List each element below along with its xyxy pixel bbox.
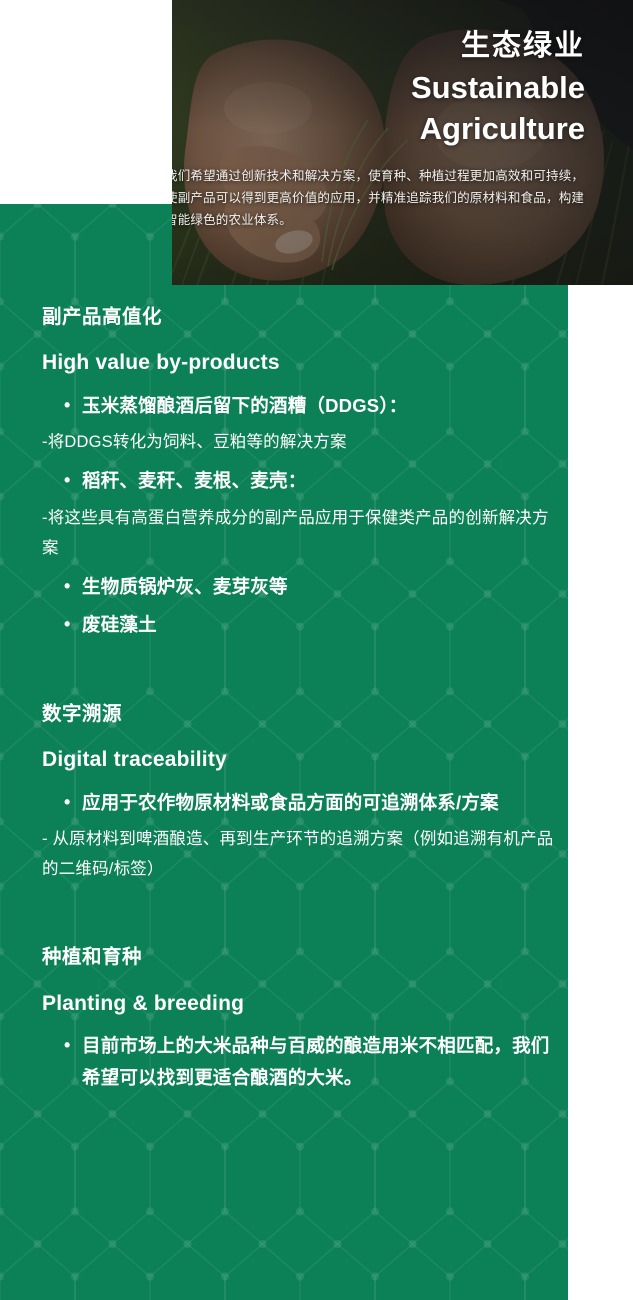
section-heading-english: Planting & breeding	[42, 990, 554, 1018]
list-item: 应用于农作物原材料或食品方面的可追溯体系/方案	[42, 787, 554, 819]
section-note: - 从原材料到啤酒酿造、再到生产环节的追溯方案（例如追溯有机产品的二维码/标签）	[42, 824, 554, 884]
hero-title-english: Sustainable Agriculture	[411, 68, 585, 150]
section-bullet-list: 生物质锅炉灰、麦芽灰等 废硅藻土	[42, 571, 554, 641]
section-bullet-list: 应用于农作物原材料或食品方面的可追溯体系/方案	[42, 787, 554, 819]
section-note: -将DDGS转化为饲料、豆粕等的解决方案	[42, 427, 554, 457]
section-spacer	[42, 667, 554, 701]
section-bullet-list: 稻秆、麦秆、麦根、麦壳：	[42, 465, 554, 497]
content-body: 副产品高值化 High value by-products 玉米蒸馏酿酒后留下的…	[0, 204, 568, 1120]
hero-title-english-line2: Agriculture	[411, 109, 585, 150]
section-note: -将这些具有高蛋白营养成分的副产品应用于保健类产品的创新解决方案	[42, 503, 554, 563]
section-bullet-list: 目前市场上的大米品种与百威的酿造用米不相匹配，我们希望可以找到更适合酿酒的大米。	[42, 1030, 554, 1094]
hero-title-english-line1: Sustainable	[411, 68, 585, 109]
list-item: 生物质锅炉灰、麦芽灰等	[42, 571, 554, 603]
hero-title-chinese: 生态绿业	[461, 28, 585, 64]
section-heading-chinese: 种植和育种	[42, 944, 554, 971]
section-high-value-by-products: 副产品高值化 High value by-products 玉米蒸馏酿酒后留下的…	[42, 304, 554, 641]
section-spacer	[42, 910, 554, 944]
list-item: 稻秆、麦秆、麦根、麦壳：	[42, 465, 554, 497]
section-heading-english: High value by-products	[42, 349, 554, 377]
section-heading-chinese: 数字溯源	[42, 701, 554, 728]
section-planting-and-breeding: 种植和育种 Planting & breeding 目前市场上的大米品种与百威的…	[42, 944, 554, 1093]
list-item: 玉米蒸馏酿酒后留下的酒糟（DDGS）：	[42, 390, 554, 422]
section-digital-traceability: 数字溯源 Digital traceability 应用于农作物原材料或食品方面…	[42, 701, 554, 884]
section-heading-english: Digital traceability	[42, 746, 554, 774]
section-bullet-list: 玉米蒸馏酿酒后留下的酒糟（DDGS）：	[42, 390, 554, 422]
list-item: 废硅藻土	[42, 609, 554, 641]
list-item: 目前市场上的大米品种与百威的酿造用米不相匹配，我们希望可以找到更适合酿酒的大米。	[42, 1030, 554, 1094]
section-heading-chinese: 副产品高值化	[42, 304, 554, 331]
